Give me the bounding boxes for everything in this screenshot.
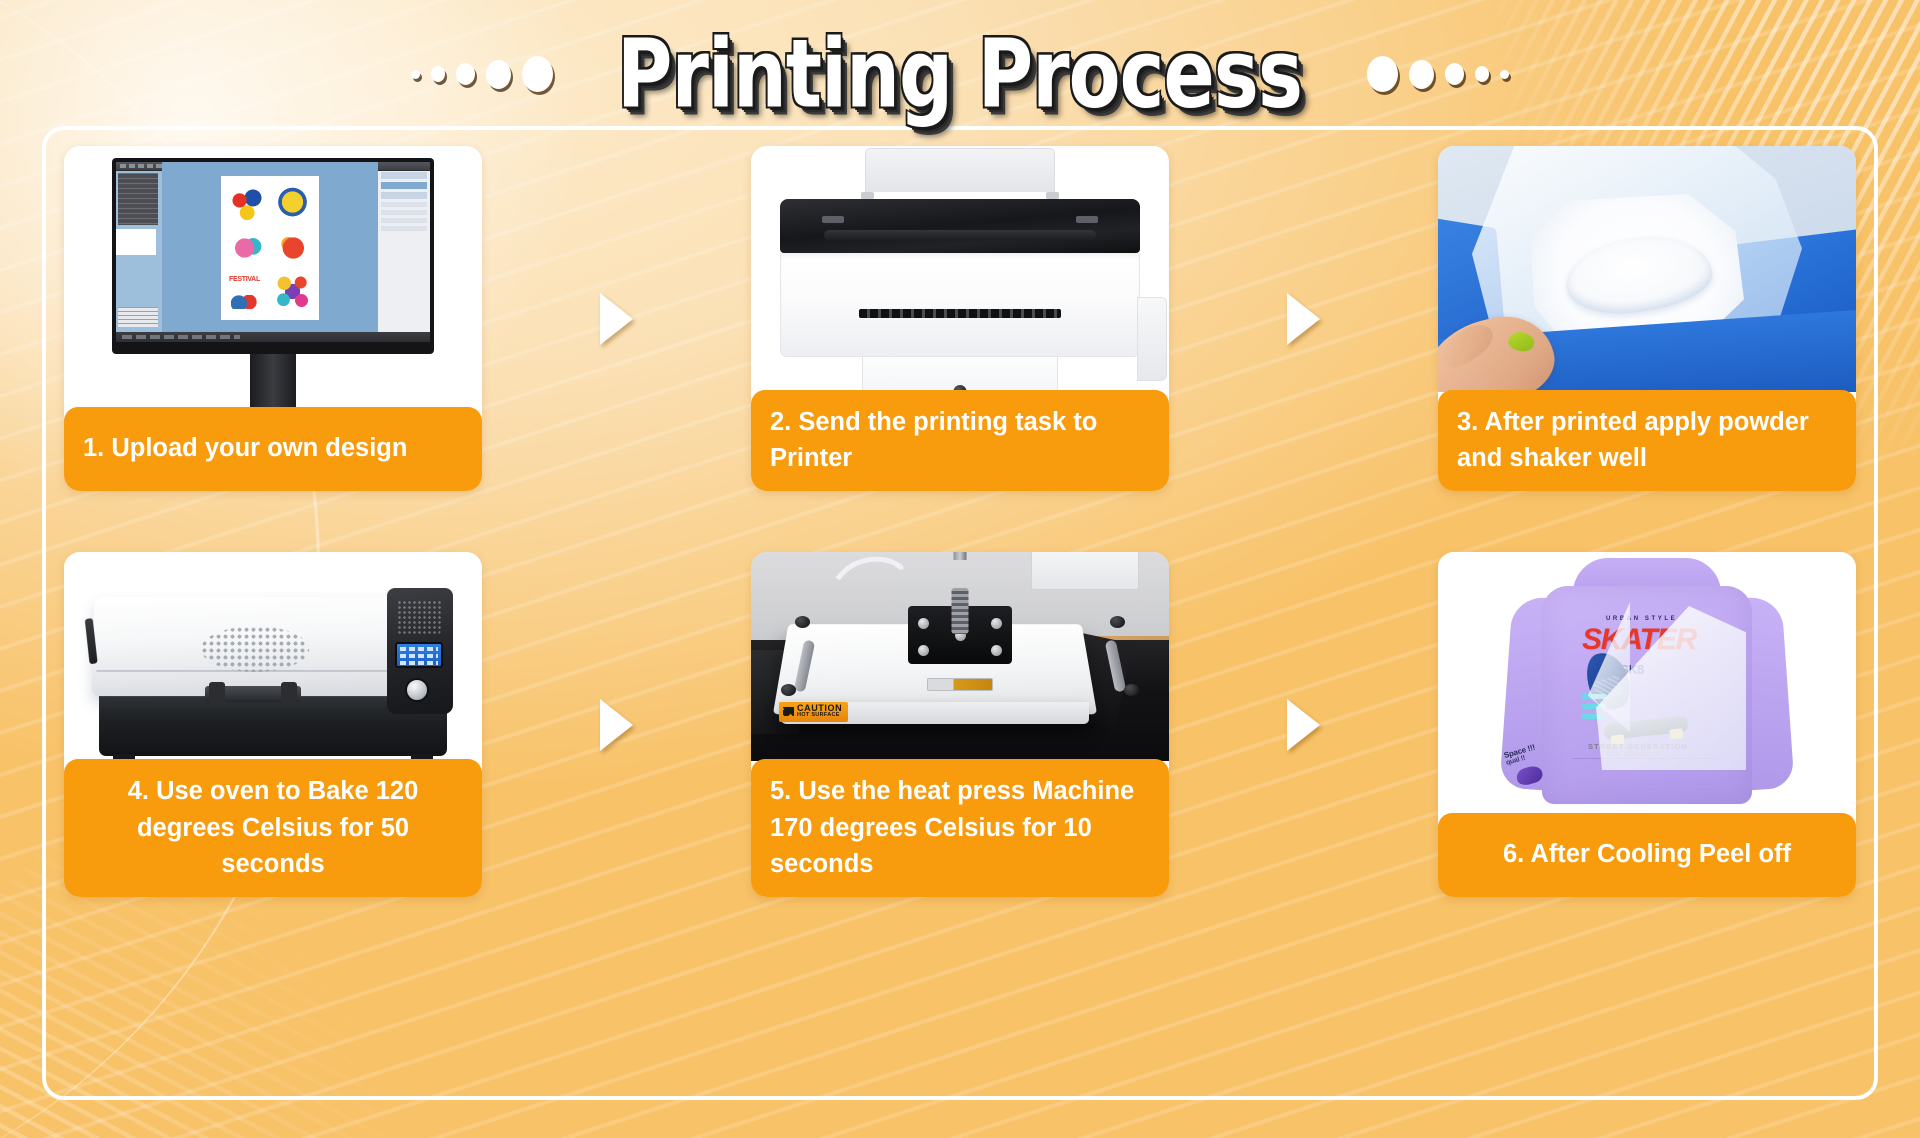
step-arrow-1-to-2 (482, 146, 751, 491)
step-card-6[interactable]: URBAN STYLE SKATER SK8 STREET GENERATION… (1438, 552, 1856, 897)
step-arrow-5-to-6 (1169, 552, 1438, 897)
powder-application-photo (1438, 146, 1856, 392)
press-knob (795, 616, 810, 628)
next-step-arrow-icon (600, 699, 633, 751)
software-note-box (118, 307, 158, 327)
oven-handle[interactable] (205, 686, 301, 702)
green-fingernail (1507, 331, 1535, 353)
step-caption-3: 3. After printed apply powder and shaker… (1438, 390, 1856, 491)
software-pane (381, 218, 427, 223)
oven-lid (91, 597, 416, 696)
press-knob (1124, 684, 1139, 696)
printer-top-lid (780, 199, 1140, 253)
printer-output-slot (859, 309, 1061, 318)
monitor-with-design-software (64, 146, 482, 409)
software-pane (381, 210, 427, 215)
press-knob (781, 684, 796, 696)
monitor-stand-neck (250, 354, 296, 408)
oven-vent-icon (201, 626, 310, 672)
oven-hinge (85, 618, 98, 664)
title-row: Printing Process (0, 22, 1920, 126)
press-spring (952, 588, 969, 634)
press-nameplate (927, 678, 993, 691)
step-caption-5: 5. Use the heat press Machine 170 degree… (751, 759, 1169, 897)
next-step-arrow-icon (1287, 699, 1320, 751)
software-right-panel (378, 162, 430, 342)
oven-lid-lip (96, 670, 412, 672)
printer-front-tray (862, 357, 1058, 392)
caution-label-sub: HOT SURFACE (797, 713, 842, 719)
steps-row-top: 1. Upload your own design (64, 146, 1856, 486)
dot-sequence-left-icon (411, 56, 553, 92)
software-left-panel (116, 162, 162, 342)
design-artwork (272, 228, 314, 269)
software-pane (381, 202, 427, 207)
design-artwork (227, 228, 269, 269)
software-pane-selected (381, 182, 427, 189)
powder-scene (1438, 146, 1856, 392)
oven-speaker-mesh (397, 600, 441, 634)
dtf-printer (751, 146, 1169, 392)
monitor-bezel (112, 158, 434, 354)
caution-hot-surface-label: CAUTION HOT SURFACE (779, 702, 848, 722)
print-text-urban-style: URBAN STYLE (1606, 616, 1677, 622)
design-artwork (227, 184, 269, 225)
press-shaft (954, 552, 967, 560)
oven-illustration (93, 580, 453, 761)
step-caption-1: 1. Upload your own design (64, 407, 482, 491)
software-preview-box (116, 229, 156, 255)
monitor-illustration (112, 158, 434, 409)
step-card-4[interactable]: 4. Use oven to Bake 120 degrees Celsius … (64, 552, 482, 897)
design-artwork (227, 271, 269, 312)
step-card-3[interactable]: 3. After printed apply powder and shaker… (1438, 146, 1856, 491)
steps-grid: 1. Upload your own design (64, 146, 1856, 886)
oven-control-panel (387, 588, 453, 714)
oven-power-button[interactable] (405, 678, 429, 702)
heat-press-machine: CAUTION HOT SURFACE (751, 552, 1169, 761)
hoodie-scene: URBAN STYLE SKATER SK8 STREET GENERATION… (1438, 552, 1856, 815)
step-card-1[interactable]: 1. Upload your own design (64, 146, 482, 491)
step-arrow-4-to-5 (482, 552, 751, 897)
design-artwork (272, 271, 314, 312)
press-pressure-hub (908, 606, 1012, 664)
sleeve-badge-shape (1515, 764, 1545, 788)
curing-oven (64, 552, 482, 761)
design-artwork (272, 184, 314, 225)
monitor-screen (116, 162, 430, 342)
step-caption-6: 6. After Cooling Peel off (1438, 813, 1856, 897)
step-caption-4: 4. Use oven to Bake 120 degrees Celsius … (64, 759, 482, 897)
software-pane (381, 192, 427, 199)
hoodie-illustration: URBAN STYLE SKATER SK8 STREET GENERATION… (1492, 558, 1802, 808)
next-step-arrow-icon (1287, 293, 1320, 345)
press-knob (1110, 616, 1125, 628)
software-canvas (162, 162, 378, 342)
printer-feed-arms (835, 192, 1085, 199)
step-caption-2: 2. Send the printing task to Printer (751, 390, 1169, 491)
dot-sequence-right-icon (1367, 56, 1509, 92)
next-step-arrow-icon (600, 293, 633, 345)
printer-paper-feed (865, 148, 1055, 192)
design-page (221, 176, 319, 320)
finished-hoodie: URBAN STYLE SKATER SK8 STREET GENERATION… (1438, 552, 1856, 815)
printer-illustration (780, 148, 1140, 392)
press-control-panel (1031, 552, 1139, 590)
step-card-2[interactable]: 2. Send the printing task to Printer (751, 146, 1169, 491)
page-title: Printing Process (617, 27, 1302, 121)
printer-body (780, 253, 1140, 357)
step-card-5[interactable]: CAUTION HOT SURFACE 5. Use the heat pres… (751, 552, 1169, 897)
oven-lcd-display (395, 642, 443, 668)
printer-side-tank (1137, 297, 1167, 381)
software-toolbox (118, 173, 158, 225)
heat-press-scene: CAUTION HOT SURFACE (751, 552, 1169, 761)
software-pane (381, 172, 427, 179)
software-pane (381, 226, 427, 231)
steps-row-bottom: 4. Use oven to Bake 120 degrees Celsius … (64, 552, 1856, 892)
step-arrow-2-to-3 (1169, 146, 1438, 491)
software-statusbar (116, 332, 430, 342)
